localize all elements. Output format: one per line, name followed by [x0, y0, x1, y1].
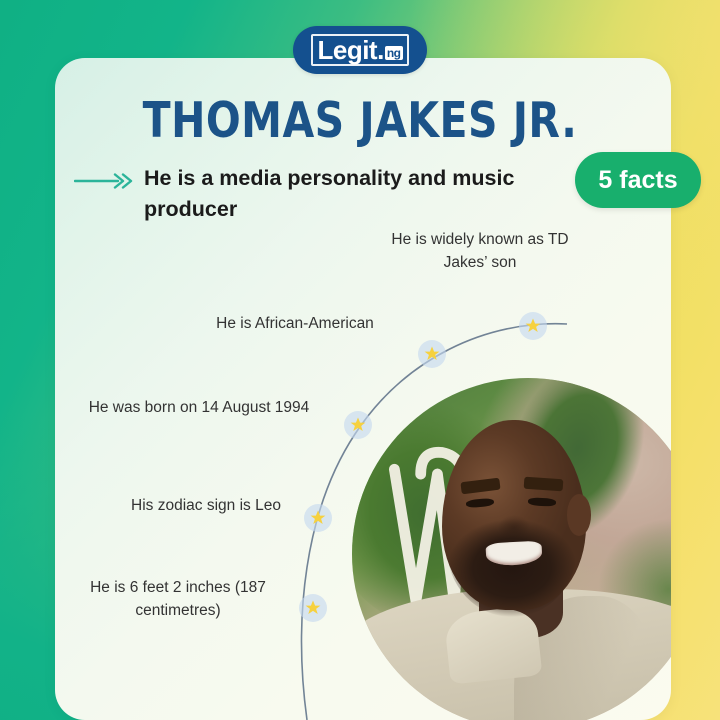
subtitle-row: He is a media personality and music prod… [74, 163, 544, 224]
page-subtitle: He is a media personality and music prod… [144, 163, 524, 224]
fact-item-4: His zodiac sign is Leo [96, 494, 316, 517]
logo-wordmark: Legit.ng [311, 34, 408, 66]
logo-tld: ng [385, 46, 403, 60]
fact-item-5: He is 6 feet 2 inches (187 centimetres) [68, 576, 288, 623]
infographic-poster: Legit.ng THOMAS JAKES JR. He is a media … [0, 0, 720, 720]
logo-dot: . [377, 37, 384, 63]
arrow-right-double-icon [74, 173, 136, 189]
facts-count-badge: 5 facts [575, 152, 701, 208]
logo-word-text: Legit [317, 37, 377, 63]
page-title: THOMAS JAKES JR. [25, 92, 695, 149]
collar-shape [444, 606, 542, 686]
fact-item-1: He is widely known as TD Jakes’ son [374, 228, 586, 275]
portrait-photo [352, 378, 671, 720]
fact-item-3: He was born on 14 August 1994 [58, 396, 340, 419]
fact-item-2: He is African-American [185, 312, 405, 335]
legit-ng-logo[interactable]: Legit.ng [293, 26, 427, 74]
